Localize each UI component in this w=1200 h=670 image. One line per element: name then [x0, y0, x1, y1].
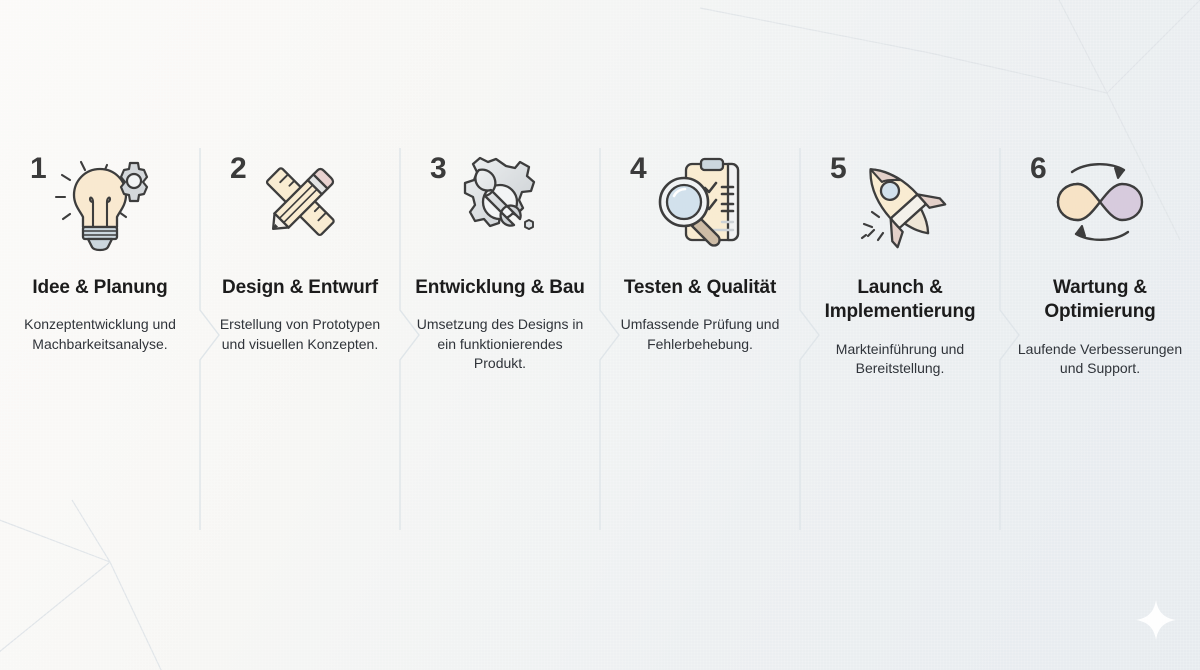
step-divider-chevron — [599, 148, 635, 530]
process-step-6[interactable]: 6 Wartung & Optimierung Laufende Verbess… — [1000, 0, 1200, 670]
infinity-refresh-icon — [1048, 150, 1152, 254]
process-step-1[interactable]: 1 Idee & Planung Konzeptentwicklung und … — [0, 0, 200, 670]
step-divider-chevron — [399, 148, 435, 530]
step-description: Erstellung von Prototypen und visuellen … — [216, 315, 384, 354]
step-description: Markteinführung und Bereitstellung. — [816, 340, 984, 379]
step-title: Idee & Planung — [32, 276, 167, 300]
step-description: Umfassende Prüfung und Fehlerbehebung. — [616, 315, 784, 354]
step-description: Umsetzung des Designs in ein funktionier… — [416, 315, 584, 373]
step-number: 3 — [430, 154, 447, 184]
process-steps: 1 Idee & Planung Konzeptentwicklung und … — [0, 0, 1200, 670]
process-step-4[interactable]: 4 Testen & Qualität Umfassende Prüfung u… — [600, 0, 800, 670]
lightbulb-gear-icon — [48, 150, 152, 254]
step-divider-chevron — [199, 148, 235, 530]
step-number: 5 — [830, 154, 847, 184]
step-title: Launch & Implementierung — [811, 276, 989, 325]
ruler-pencil-icon — [248, 150, 352, 254]
clipboard-magnifier-icon — [648, 150, 752, 254]
step-number: 1 — [30, 154, 47, 184]
process-step-5[interactable]: 5 Launch & Implementierung Markteinführu… — [800, 0, 1000, 670]
step-number: 6 — [1030, 154, 1047, 184]
step-number: 2 — [230, 154, 247, 184]
step-title: Design & Entwurf — [222, 276, 378, 300]
step-description: Laufende Verbesserungen und Support. — [1016, 340, 1184, 379]
step-divider-chevron — [799, 148, 835, 530]
step-divider-chevron — [999, 148, 1035, 530]
gear-wrench-icon — [448, 150, 552, 254]
process-step-2[interactable]: 2 Design & Entwurf — [200, 0, 400, 670]
step-title: Testen & Qualität — [624, 276, 776, 300]
step-description: Konzeptentwicklung und Machbarkeitsanaly… — [16, 315, 184, 354]
process-step-3[interactable]: 3 Entwicklung & Bau Umsetzung des Design… — [400, 0, 600, 670]
step-number: 4 — [630, 154, 647, 184]
rocket-icon — [848, 150, 952, 254]
step-title: Entwicklung & Bau — [415, 276, 585, 300]
step-title: Wartung & Optimierung — [1011, 276, 1189, 325]
